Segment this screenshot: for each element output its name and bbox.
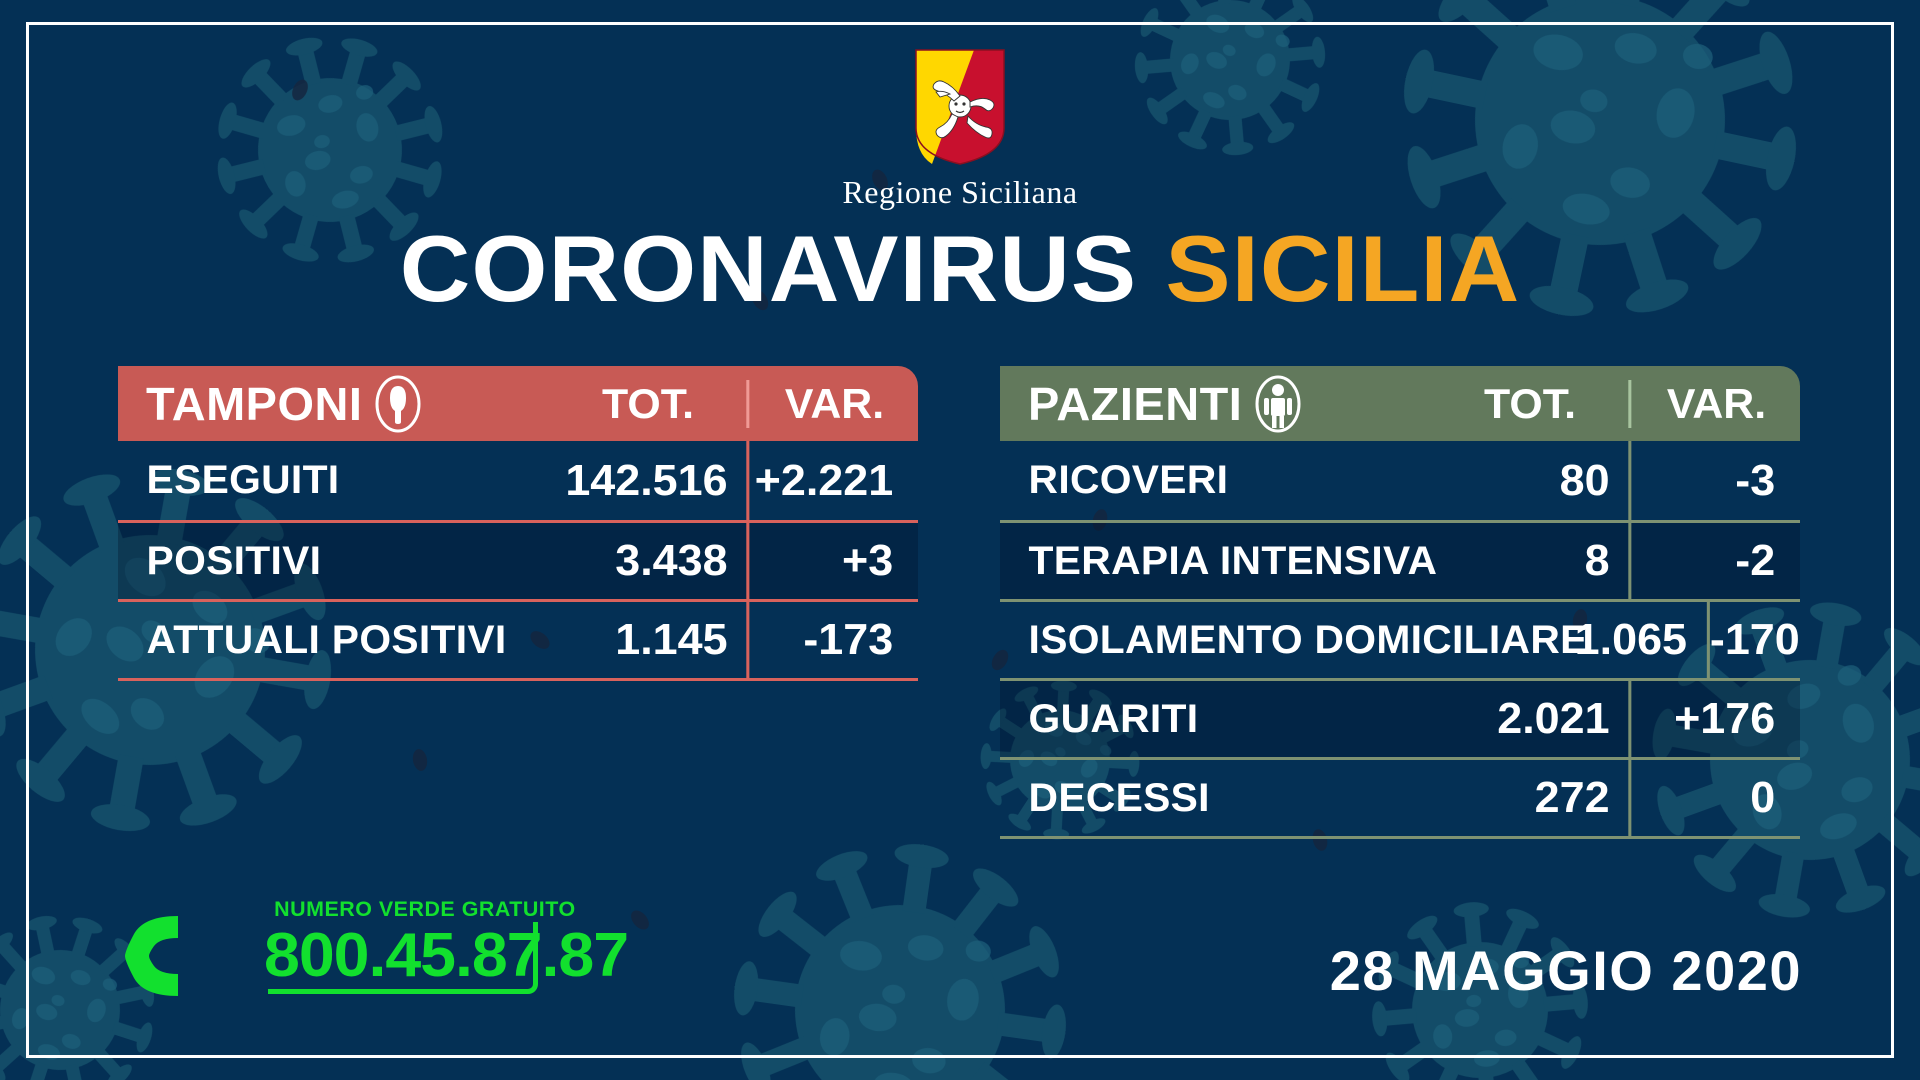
table-tamponi-title: TAMPONI <box>146 377 362 431</box>
table-pazienti-body: RICOVERI 80 -3 TERAPIA INTENSIVA 8 -2 IS… <box>1000 441 1800 839</box>
table-row: TERAPIA INTENSIVA 8 -2 <box>1000 520 1800 599</box>
title-sicilia: SICILIA <box>1165 216 1520 321</box>
title-coronavirus: CORONAVIRUS <box>400 216 1137 321</box>
row-variation: +2.221 <box>746 441 919 520</box>
row-label: RICOVERI <box>1000 458 1228 503</box>
table-pazienti-header: PAZIENTI TOT. VAR. <box>1000 366 1800 441</box>
row-total: 1.065 <box>1575 615 1710 665</box>
row-label: ESEGUITI <box>118 458 339 503</box>
table-tamponi: TAMPONI TOT. VAR. ESEGUITI 142.516 +2.22… <box>118 366 918 681</box>
table-row: GUARITI 2.021 +176 <box>1000 678 1800 757</box>
table-row: ATTUALI POSITIVI 1.145 -173 <box>118 599 918 678</box>
row-label: POSITIVI <box>118 539 321 584</box>
toll-free-label: NUMERO VERDE GRATUITO <box>266 898 584 922</box>
row-label: TERAPIA INTENSIVA <box>1000 539 1437 584</box>
table-pazienti-col-var: VAR. <box>1628 380 1801 428</box>
table-row: ESEGUITI 142.516 +2.221 <box>118 441 918 520</box>
page-header: Regione Siciliana <box>0 48 1920 211</box>
row-total: 80 <box>1428 456 1632 506</box>
person-icon <box>1254 374 1302 434</box>
table-tamponi-header: TAMPONI TOT. VAR. <box>118 366 918 441</box>
report-date: 28 MAGGIO 2020 <box>1330 938 1802 1003</box>
row-total: 272 <box>1428 773 1632 823</box>
page-title: CORONAVIRUS SICILIA <box>0 222 1920 316</box>
toll-free-number[interactable]: 800.45.87.87 <box>264 920 628 991</box>
table-row: RICOVERI 80 -3 <box>1000 441 1800 520</box>
row-variation: -170 <box>1707 602 1826 678</box>
row-variation: -3 <box>1628 441 1801 520</box>
table-pazienti-col-tot: TOT. <box>1428 380 1632 428</box>
table-tamponi-body: ESEGUITI 142.516 +2.221 POSITIVI 3.438 +… <box>118 441 918 681</box>
row-variation: -2 <box>1628 523 1801 599</box>
row-variation: +176 <box>1628 681 1801 757</box>
row-total: 8 <box>1428 536 1632 586</box>
row-label: ATTUALI POSITIVI <box>118 618 507 663</box>
row-label: ISOLAMENTO DOMICILIARE <box>1000 618 1588 663</box>
table-tamponi-col-var: VAR. <box>746 380 919 428</box>
row-total: 142.516 <box>546 456 750 506</box>
toll-free-number-block: NUMERO VERDE GRATUITO 800.45.87.87 <box>118 898 448 1008</box>
row-label: GUARITI <box>1000 697 1198 742</box>
table-tamponi-col-tot: TOT. <box>546 380 750 428</box>
phone-handset-icon <box>118 910 193 1002</box>
row-total: 3.438 <box>546 536 750 586</box>
table-row: POSITIVI 3.438 +3 <box>118 520 918 599</box>
table-row: ISOLAMENTO DOMICILIARE 1.065 -170 <box>1000 599 1800 678</box>
table-pazienti-title: PAZIENTI <box>1028 377 1242 431</box>
row-label: DECESSI <box>1000 776 1210 821</box>
row-variation: -173 <box>746 602 919 678</box>
table-row: DECESSI 272 0 <box>1000 757 1800 836</box>
trinacria-crest-icon <box>914 48 1006 166</box>
swab-icon <box>374 374 422 434</box>
region-label: Regione Siciliana <box>842 174 1077 211</box>
row-total: 1.145 <box>546 615 750 665</box>
row-variation: 0 <box>1628 760 1801 836</box>
row-variation: +3 <box>746 523 919 599</box>
table-pazienti: PAZIENTI TOT. VAR. RICOVERI 80 -3 TERAPI… <box>1000 366 1800 839</box>
row-total: 2.021 <box>1428 694 1632 744</box>
